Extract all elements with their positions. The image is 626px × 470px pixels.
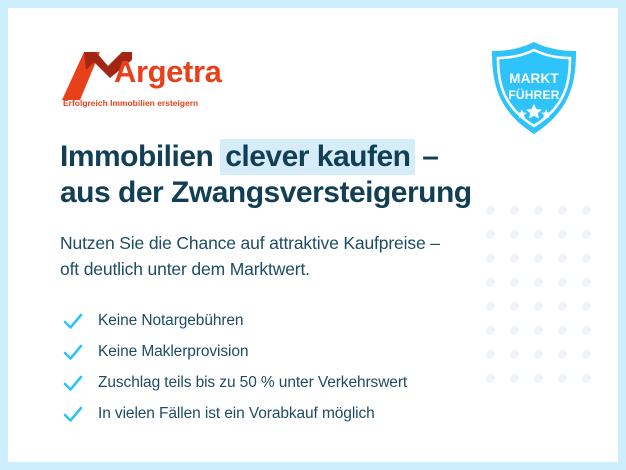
grid-dot	[486, 230, 495, 239]
grid-dot	[558, 326, 567, 335]
check-icon	[62, 372, 84, 394]
page-title: Immobilien clever kaufen – aus der Zwang…	[60, 139, 472, 210]
headline-highlight: clever kaufen	[220, 139, 415, 175]
grid-dot	[558, 278, 567, 287]
grid-dot	[510, 206, 519, 215]
grid-dot	[558, 350, 567, 359]
benefit-label: Zuschlag teils bis zu 50 % unter Verkehr…	[98, 374, 407, 392]
grid-dot	[534, 326, 543, 335]
grid-dot	[486, 350, 495, 359]
grid-dot	[558, 230, 567, 239]
grid-dot	[510, 326, 519, 335]
list-item: In vielen Fällen ist ein Vorabkauf mögli…	[62, 398, 407, 429]
grid-dot	[534, 254, 543, 263]
grid-dot	[558, 302, 567, 311]
subheadline-line-2: oft deutlich unter dem Marktwert.	[60, 257, 440, 283]
check-icon	[62, 310, 84, 332]
logo-wordmark: Argetra	[114, 56, 221, 87]
grid-dot	[534, 350, 543, 359]
grid-dot	[582, 350, 591, 359]
grid-dot	[582, 254, 591, 263]
logo-mark-row: Argetra	[62, 48, 262, 100]
grid-dot	[486, 254, 495, 263]
grid-dot	[534, 278, 543, 287]
benefit-label: In vielen Fällen ist ein Vorabkauf mögli…	[98, 405, 375, 423]
grid-dot	[582, 206, 591, 215]
grid-dot	[486, 206, 495, 215]
grid-dot	[534, 374, 543, 383]
grid-dot	[486, 278, 495, 287]
grid-dot	[510, 374, 519, 383]
grid-dot	[534, 302, 543, 311]
argetra-logo[interactable]: Argetra Erfolgreich Immobilien ersteiger…	[62, 48, 262, 100]
benefit-label: Keine Maklerprovision	[98, 343, 248, 361]
grid-dot	[486, 326, 495, 335]
grid-dot	[510, 350, 519, 359]
subheadline-line-1: Nutzen Sie die Chance auf attraktive Kau…	[60, 231, 440, 257]
list-item: Keine Maklerprovision	[62, 336, 407, 367]
market-leader-badge: MARKT FÜHRER	[488, 40, 580, 136]
grid-dot	[582, 302, 591, 311]
list-item: Zuschlag teils bis zu 50 % unter Verkehr…	[62, 367, 407, 398]
headline-line-2: aus der Zwangsversteigerung	[60, 175, 472, 211]
grid-dot	[558, 206, 567, 215]
grid-dot	[582, 326, 591, 335]
grid-dot	[510, 230, 519, 239]
headline-line-1-pre: Immobilien	[60, 140, 221, 173]
grid-dot	[582, 278, 591, 287]
grid-dot	[558, 374, 567, 383]
check-icon	[62, 403, 84, 425]
badge-line-1: MARKT	[509, 71, 559, 86]
banner-surface: Argetra Erfolgreich Immobilien ersteiger…	[8, 8, 618, 462]
grid-dot	[510, 278, 519, 287]
grid-dot	[582, 374, 591, 383]
grid-dot	[510, 302, 519, 311]
headline-line-1: Immobilien clever kaufen –	[60, 139, 472, 175]
decorative-dot-grid	[486, 206, 612, 396]
grid-dot	[534, 206, 543, 215]
advertisement-banner[interactable]: Argetra Erfolgreich Immobilien ersteiger…	[0, 0, 626, 470]
grid-dot	[510, 254, 519, 263]
headline-line-1-post: –	[414, 140, 438, 173]
grid-dot	[486, 302, 495, 311]
grid-dot	[558, 254, 567, 263]
grid-dot	[486, 374, 495, 383]
logo-tagline: Erfolgreich Immobilien ersteigern	[63, 98, 198, 108]
list-item: Keine Notargebühren	[62, 305, 407, 336]
grid-dot	[582, 230, 591, 239]
benefits-list: Keine Notargebühren Keine Maklerprovisio…	[62, 305, 407, 429]
subheadline: Nutzen Sie die Chance auf attraktive Kau…	[60, 231, 440, 282]
badge-line-2: FÜHRER	[508, 87, 559, 102]
grid-dot	[534, 230, 543, 239]
check-icon	[62, 341, 84, 363]
benefit-label: Keine Notargebühren	[98, 312, 243, 330]
